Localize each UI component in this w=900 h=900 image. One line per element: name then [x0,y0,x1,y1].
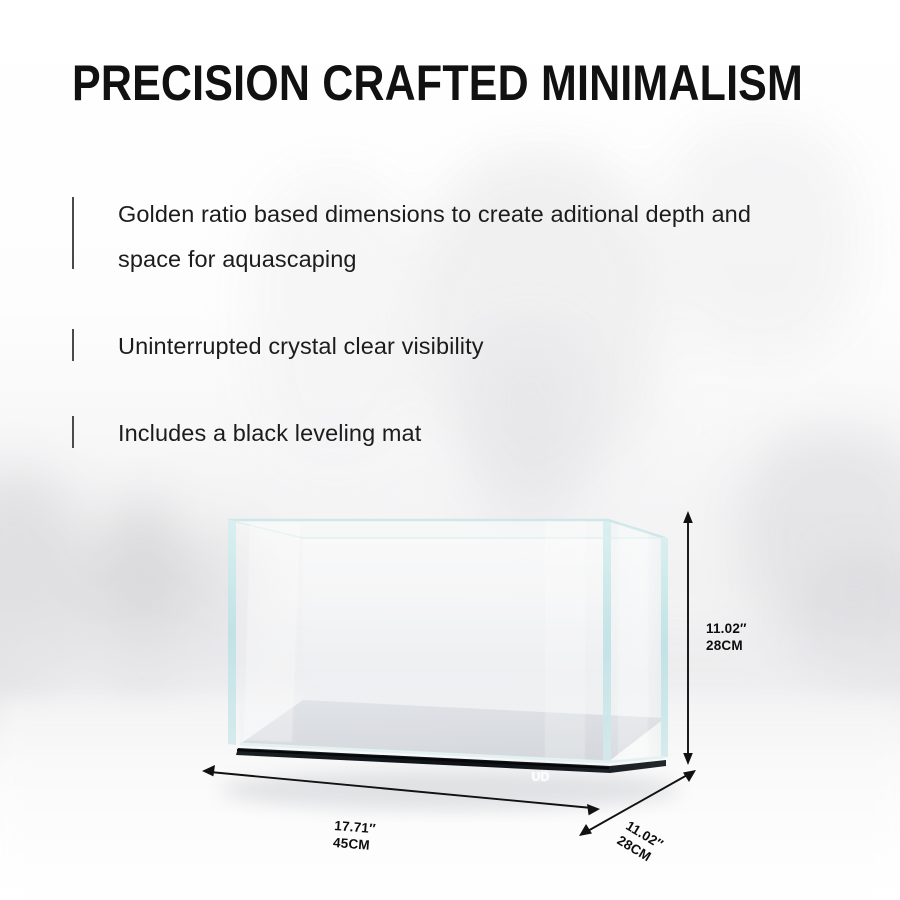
product-feature-graphic: PRECISION CRAFTED MINIMALISM Golden rati… [0,0,900,900]
feature-label: Includes a black leveling mat [118,411,421,456]
bullet-rule-icon [72,416,74,448]
feature-item-visibility: Uninterrupted crystal clear visibility [72,324,792,369]
feature-item-golden-ratio: Golden ratio based dimensions to create … [72,192,792,282]
page-title: PRECISION CRAFTED MINIMALISM [72,57,803,109]
bullet-rule-icon [72,329,74,361]
countertop-surface [0,700,900,900]
dimension-height-inches: 11.02″ [706,621,747,638]
dimension-height-cm: 28CM [706,638,747,655]
glass-edge-left-top-inner [228,520,303,538]
dimension-label-width: 17.71″ 45CM [332,818,376,854]
bullet-rule-icon [72,197,74,269]
feature-item-leveling-mat: Includes a black leveling mat [72,411,792,456]
dimension-label-height: 11.02″ 28CM [706,621,747,654]
dimension-width-cm: 45CM [332,834,375,854]
feature-list: Golden ratio based dimensions to create … [72,192,792,456]
tank-back-wall [303,538,665,718]
feature-label: Golden ratio based dimensions to create … [118,192,792,282]
tank-top-opening [228,520,665,538]
feature-label: Uninterrupted crystal clear visibility [118,324,484,369]
glass-edge-right-top [608,520,665,538]
